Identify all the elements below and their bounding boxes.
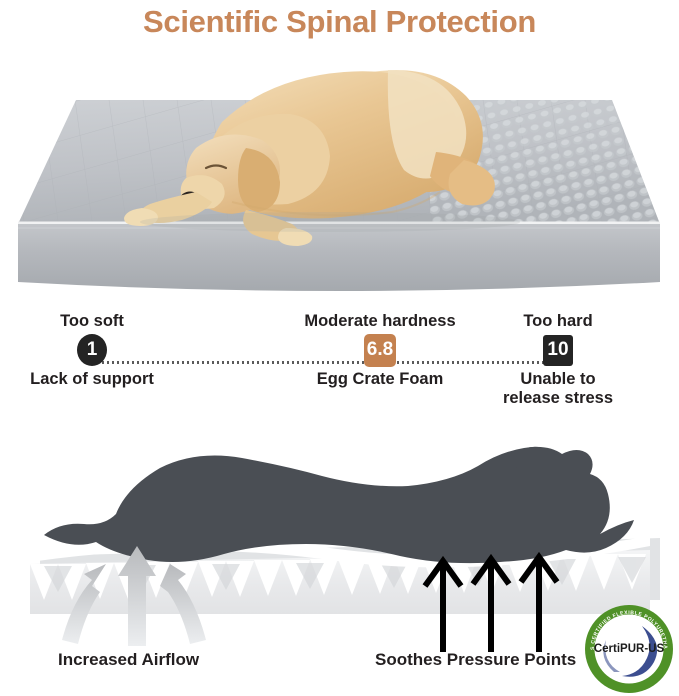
scale-top-label-moderate: Moderate hardness [290, 312, 470, 331]
scale-bottom-label-moderate: Egg Crate Foam [290, 370, 470, 389]
scale-marker-6-8[interactable]: 6.8 [364, 334, 396, 367]
dog-on-orthopedic-bed-photo [0, 52, 679, 302]
certipur-us-badge: CertiPUR-US ® CONTAINS CERTIFIED FLEXIBL… [584, 604, 674, 694]
scale-top-label-hard: Too hard [468, 312, 648, 331]
airflow-label: Increased Airflow [58, 650, 199, 670]
scale-stop-hard: Too hard 10 Unable to release stress [468, 312, 648, 408]
hardness-scale: Too soft 1 Lack of support Moderate hard… [0, 312, 679, 422]
dog-silhouette-path [44, 447, 634, 563]
scale-stop-soft: Too soft 1 Lack of support [2, 312, 182, 389]
pressure-points-label: Soothes Pressure Points [375, 650, 576, 670]
scale-bottom-label-hard-line2: release stress [468, 389, 648, 408]
pressure-arrows [425, 557, 557, 652]
badge-center-text: CertiPUR-US [594, 643, 665, 655]
scale-top-label-soft: Too soft [2, 312, 182, 331]
page-title: Scientific Spinal Protection [0, 2, 679, 42]
scale-marker-10[interactable]: 10 [543, 335, 573, 366]
scale-marker-1[interactable]: 1 [77, 334, 107, 366]
scale-bottom-label-hard-line1: Unable to [468, 370, 648, 389]
scale-stop-moderate: Moderate hardness 6.8 Egg Crate Foam [290, 312, 470, 389]
scale-bottom-label-soft: Lack of support [2, 370, 182, 389]
